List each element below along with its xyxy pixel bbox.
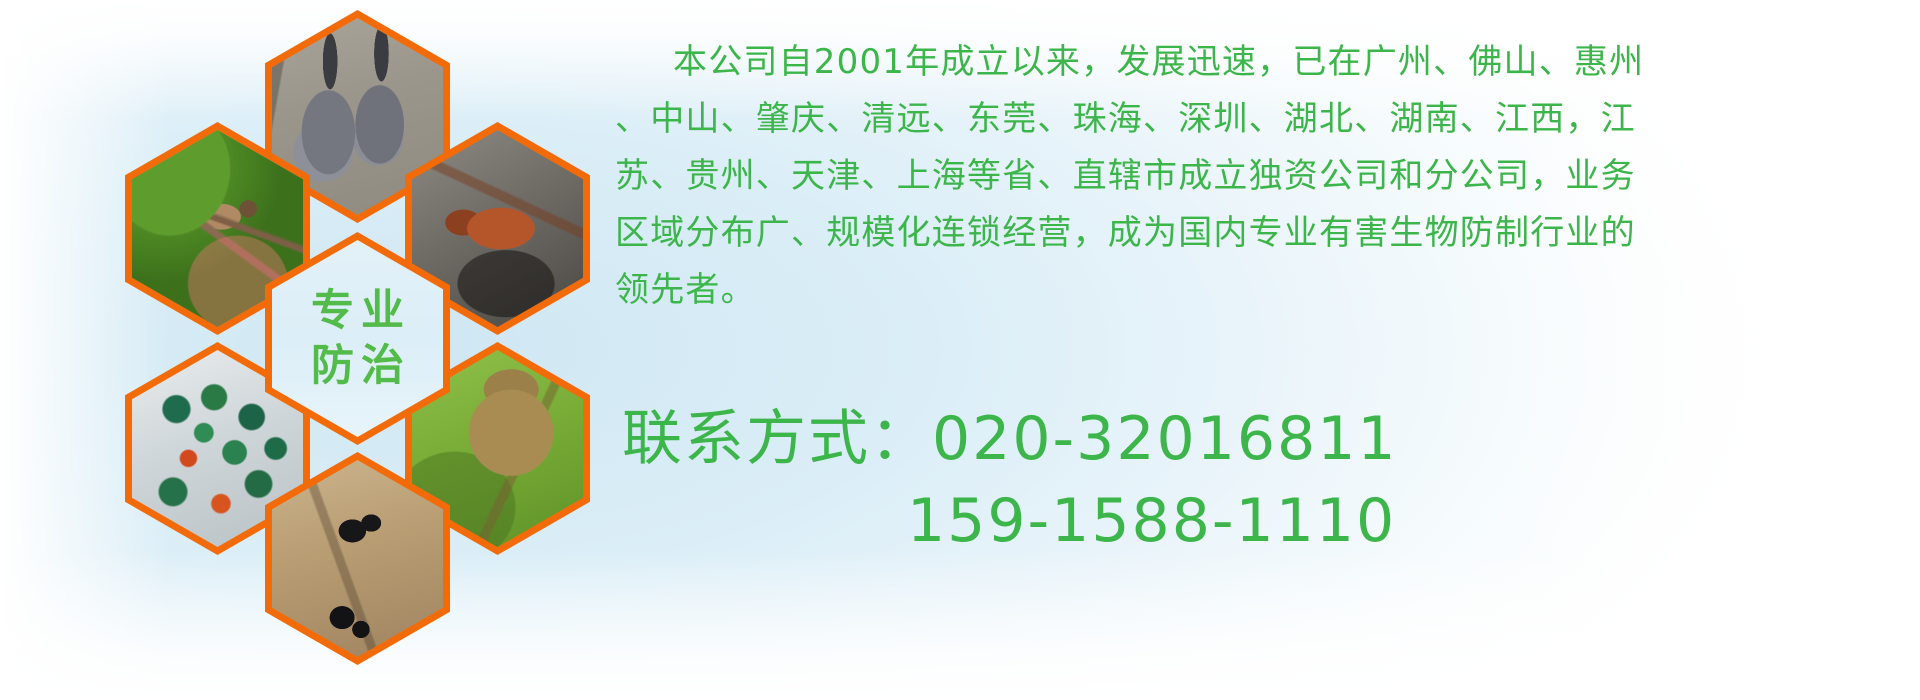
ants-photo [272, 460, 443, 657]
intro-line: 区域分布广、规模化连锁经营，成为国内专业有害生物防制行业的 [615, 205, 1885, 262]
slogan-line-2: 防治 [304, 342, 411, 390]
company-intro-paragraph: 本公司自2001年成立以来，发展迅速，已在广州、佛山、惠州 、中山、肇庆、清远、… [615, 34, 1885, 319]
contact-landline-line[interactable]: 联系方式：020-32016811 [622, 398, 1902, 480]
pest-control-banner: 专业 防治 本公司自2001年成立以来，发展迅速，已在广州、佛山、惠州 、中山、… [0, 0, 1920, 700]
hex-image-frame [272, 460, 443, 657]
slogan-line-1: 专业 [304, 287, 411, 335]
intro-line: 本公司自2001年成立以来，发展迅速，已在广州、佛山、惠州 [615, 34, 1885, 91]
intro-line: 苏、贵州、天津、上海等省、直辖市成立独资公司和分公司，业务 [615, 148, 1885, 205]
honeycomb-gallery: 专业 防治 [85, 0, 585, 580]
contact-block: 联系方式：020-32016811 159-1588-1110 [622, 398, 1902, 562]
intro-line: 领先者。 [615, 262, 1885, 319]
contact-mobile-line[interactable]: 159-1588-1110 [622, 480, 1902, 562]
intro-line: 、中山、肇庆、清远、东莞、珠海、深圳、湖北、湖南、江西，江 [615, 91, 1885, 148]
slogan-badge: 专业 防治 [272, 240, 443, 437]
